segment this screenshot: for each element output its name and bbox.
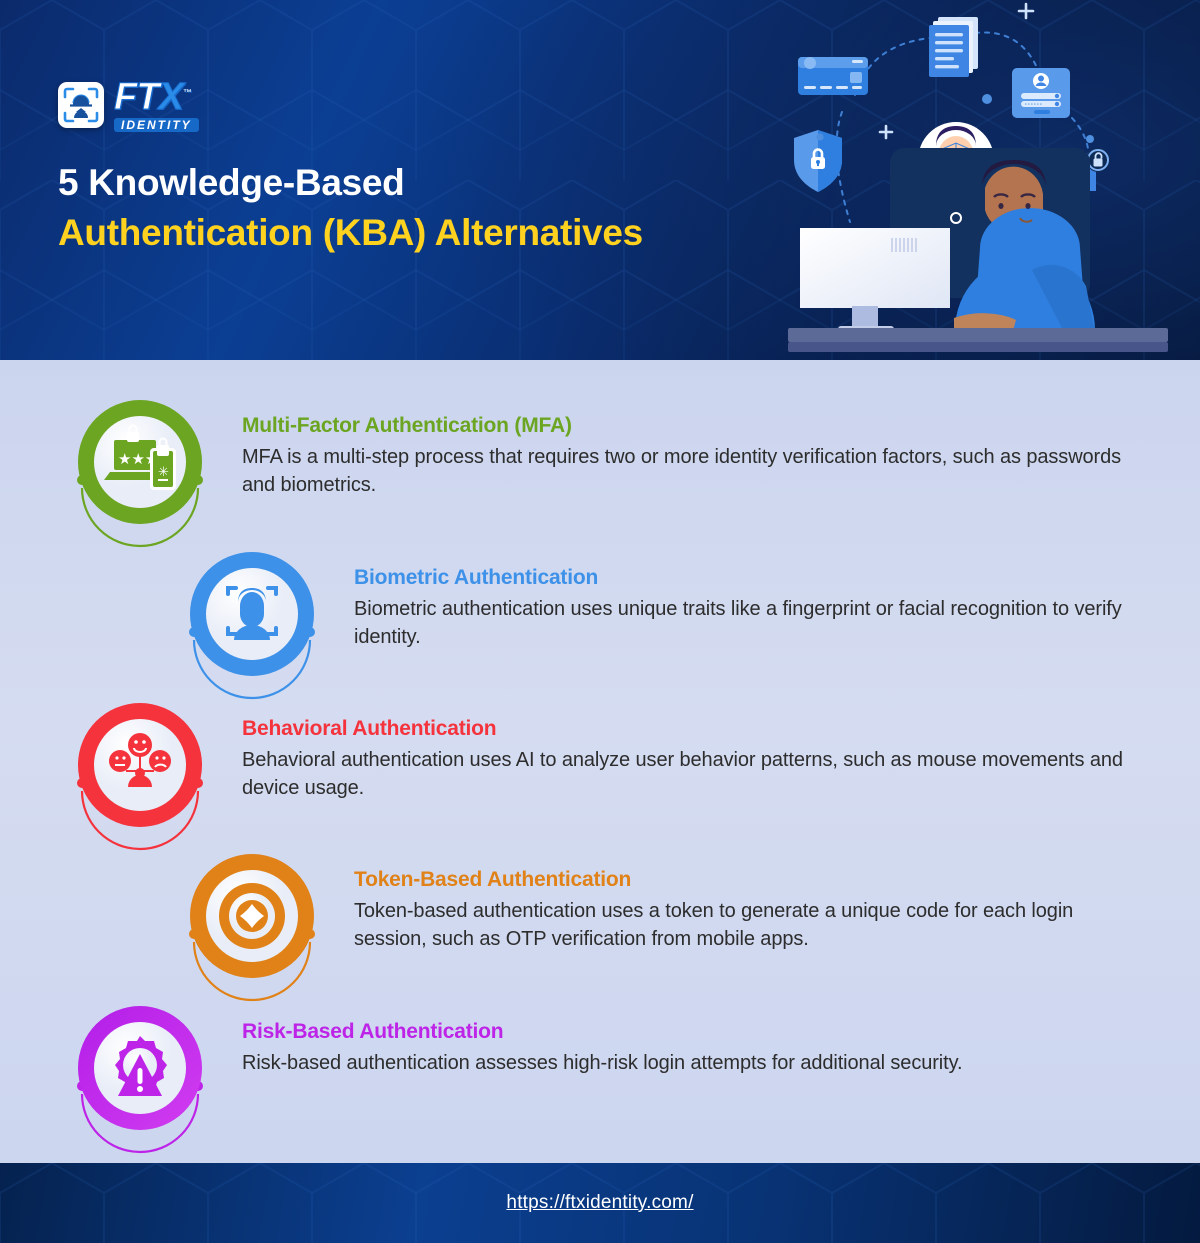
credit-card-icon (798, 57, 868, 95)
item-title: Biometric Authentication (354, 566, 1150, 590)
brand-logo[interactable]: FTX™ IDENTITY (58, 78, 199, 132)
item-title: Risk-Based Authentication (242, 1020, 962, 1044)
gear-warning-icon (78, 1006, 202, 1130)
list-item[interactable]: Token-Based Authentication Token-based a… (190, 854, 1150, 978)
website-url-link[interactable]: https://ftxidentity.com/ (506, 1192, 693, 1214)
laptop-phone-password-icon: ★★★ ✳ (78, 400, 202, 524)
concentric-token-icon (190, 854, 314, 978)
item-title: Behavioral Authentication (242, 717, 1148, 741)
item-description: Risk-based authentication assesses high-… (242, 1049, 962, 1077)
footer: https://ftxidentity.com/ (0, 1163, 1200, 1243)
title-line-2: Authentication (KBA) Alternatives (58, 208, 643, 258)
person-at-desk-security-illustration (780, 0, 1200, 360)
item-description: MFA is a multi-step process that require… (242, 443, 1148, 500)
infographic-page: FTX™ IDENTITY 5 Knowledge-Based Authenti… (0, 0, 1200, 1243)
alternatives-list: ★★★ ✳ Multi-Factor Authentication (MFA) … (0, 360, 1200, 1163)
page-title: 5 Knowledge-Based Authentication (KBA) A… (58, 158, 643, 258)
item-description: Behavioral authentication uses AI to ana… (242, 746, 1148, 803)
item-title: Multi-Factor Authentication (MFA) (242, 414, 1148, 438)
item-title: Token-Based Authentication (354, 868, 1150, 892)
item-description: Biometric authentication uses unique tra… (354, 595, 1150, 652)
face-scan-person-icon (190, 552, 314, 676)
emotion-faces-person-icon (78, 703, 202, 827)
list-item[interactable]: ★★★ ✳ Multi-Factor Authentication (MFA) … (78, 400, 1148, 524)
hero-section: FTX™ IDENTITY 5 Knowledge-Based Authenti… (0, 0, 1200, 360)
brand-tagline: IDENTITY (114, 118, 199, 132)
list-item[interactable]: Behavioral Authentication Behavioral aut… (78, 703, 1148, 827)
brand-name: FTX™ (114, 78, 199, 116)
item-description: Token-based authentication uses a token … (354, 897, 1150, 954)
login-form-icon (1012, 68, 1070, 118)
list-item[interactable]: Risk-Based Authentication Risk-based aut… (78, 1006, 1148, 1130)
list-item[interactable]: Biometric Authentication Biometric authe… (190, 552, 1150, 676)
face-scan-logo-icon (58, 82, 104, 128)
documents-icon (929, 17, 978, 77)
svg-text:✳: ✳ (158, 464, 169, 479)
title-line-1: 5 Knowledge-Based (58, 158, 643, 208)
